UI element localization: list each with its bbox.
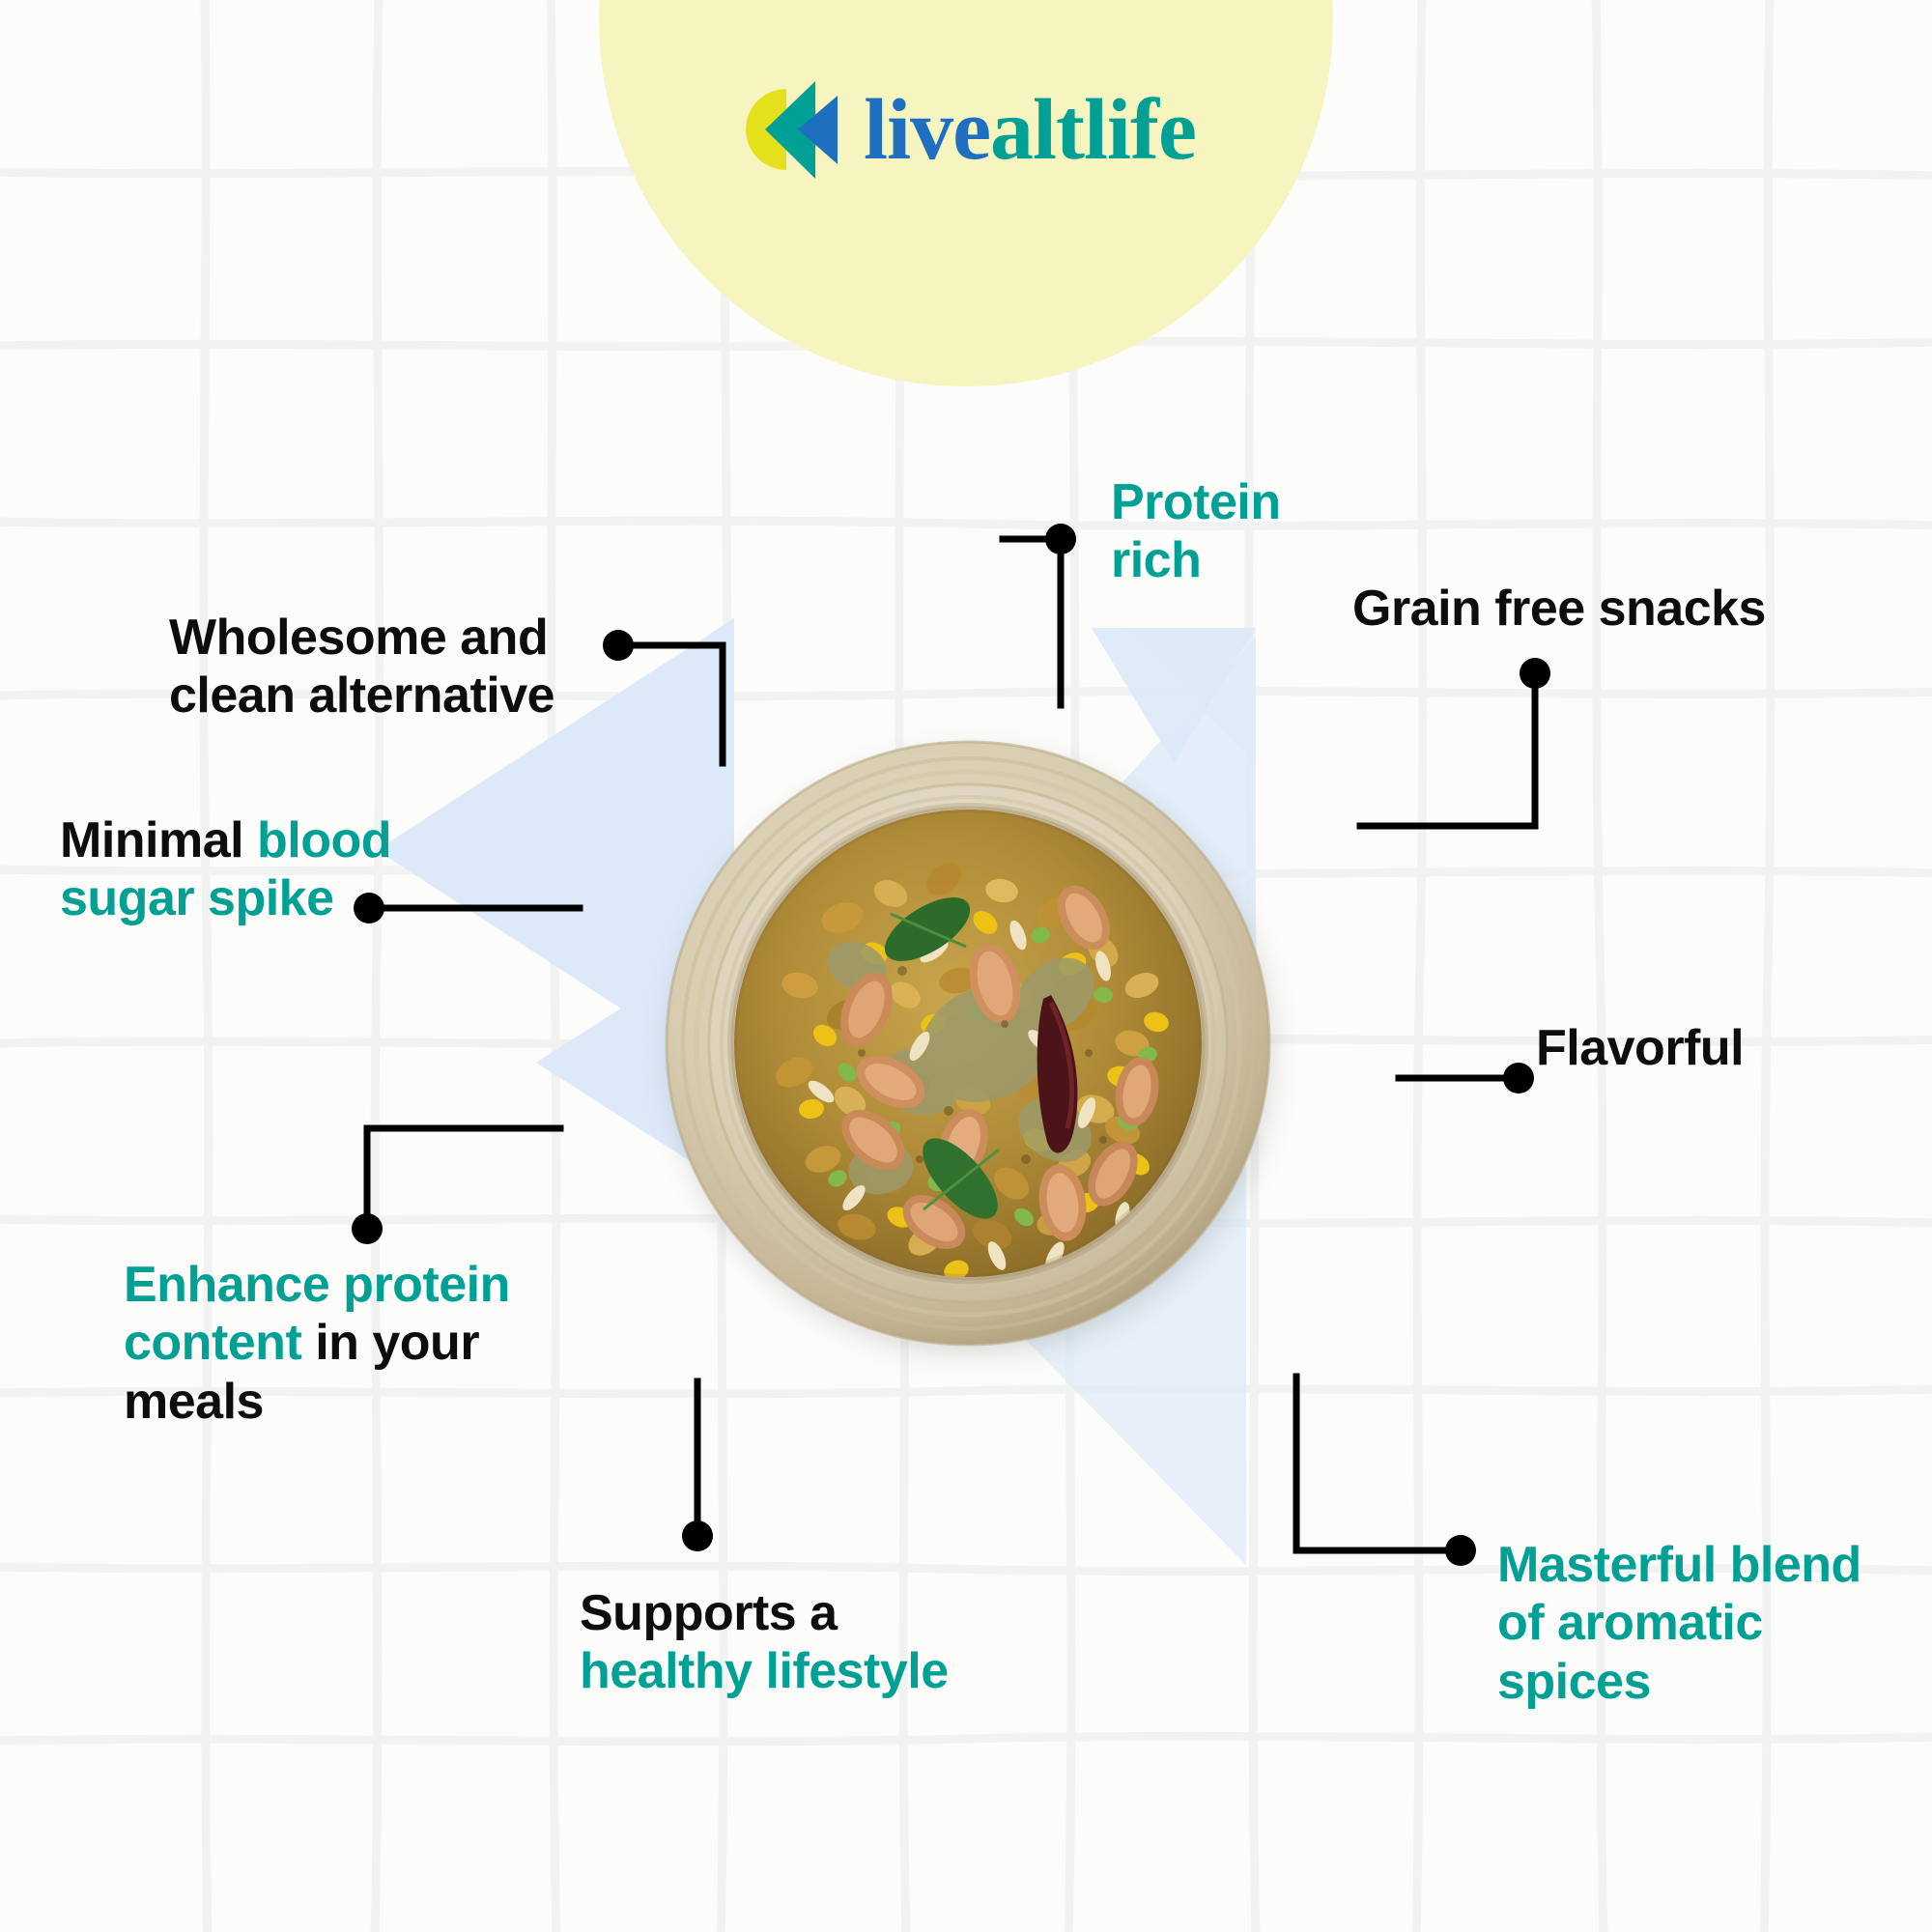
connector-dot-grain-free (1520, 658, 1550, 689)
callout-line: healthy lifestyle (580, 1642, 985, 1700)
callout-text: Flavorful (1536, 1020, 1744, 1076)
callout-line: Masterful blend (1497, 1536, 1903, 1594)
callout-flavorful: Flavorful (1536, 1019, 1826, 1077)
callout-grain-free-snacks: Grain free snacks (1352, 580, 1787, 638)
callout-line: Supports a (580, 1584, 985, 1642)
callout-line: content in your (124, 1314, 529, 1372)
callout-text: clean alternative (169, 668, 554, 724)
callout-line: of aromatic (1497, 1594, 1903, 1652)
livealtlife-arrow-mark-icon (736, 79, 842, 181)
connector-dot-masterful-blend (1445, 1535, 1476, 1566)
connector-grain-free (1360, 673, 1535, 826)
callout-text: Protein (1111, 474, 1281, 530)
callout-line: meals (124, 1373, 529, 1431)
brand-logo[interactable]: livealtlife (736, 79, 1196, 181)
callout-wholesome-clean-alternative: Wholesome and clean alternative (169, 609, 584, 725)
callout-text-accent: healthy lifestyle (580, 1643, 949, 1699)
connector-enhance-protein (367, 1128, 560, 1229)
callout-supports-healthy-lifestyle: Supports a healthy lifestyle (580, 1584, 985, 1701)
connector-dot-protein-rich (1045, 524, 1076, 554)
connector-dot-wholesome (603, 630, 634, 661)
callout-line: rich (1111, 531, 1333, 589)
connector-dot-enhance-protein (352, 1213, 383, 1244)
callout-line: clean alternative (169, 667, 584, 724)
callout-line: Grain free snacks (1352, 580, 1787, 638)
callout-line: Minimal blood (60, 811, 446, 869)
callout-text: in your (301, 1315, 479, 1371)
callout-text: meals (124, 1374, 264, 1430)
callout-line: spices (1497, 1653, 1903, 1711)
callout-text: rich (1111, 532, 1201, 588)
bowl-of-snack-mix-illustration (601, 676, 1335, 1410)
callout-protein-rich: Protein rich (1111, 473, 1333, 590)
callout-text: Wholesome and (169, 610, 548, 666)
callout-text: Grain free snacks (1352, 581, 1766, 637)
callout-line: Wholesome and (169, 609, 584, 667)
callout-text: Supports a (580, 1585, 838, 1641)
callout-text-accent: Masterful blend (1497, 1537, 1861, 1593)
callout-minimal-blood-sugar-spike: Minimal blood sugar spike (60, 811, 446, 928)
brand-wordmark: livealtlife (864, 87, 1196, 174)
callout-text-accent: blood (257, 812, 391, 868)
connector-dot-supports-lifestyle (682, 1520, 713, 1551)
brand-word-altlife: altlife (990, 82, 1196, 178)
callout-masterful-blend-aromatic-spices: Masterful blend of aromatic spices (1497, 1536, 1903, 1711)
callout-text-accent: of aromatic (1497, 1595, 1763, 1651)
callout-line: Flavorful (1536, 1019, 1826, 1077)
callout-text-accent: sugar spike (60, 870, 334, 926)
callout-line: Enhance protein (124, 1256, 529, 1314)
brand-word-live: live (864, 82, 990, 178)
callout-text: Minimal (60, 812, 257, 868)
callout-enhance-protein-content: Enhance protein content in your meals (124, 1256, 529, 1431)
callout-text-accent: Enhance protein (124, 1257, 510, 1313)
callout-text-accent: spices (1497, 1654, 1651, 1710)
callout-text-accent: content (124, 1315, 301, 1371)
header-yellow-circle (599, 0, 1333, 386)
product-bowl-image (601, 676, 1335, 1410)
connector-dot-flavorful (1503, 1063, 1534, 1094)
callout-line: sugar spike (60, 869, 446, 927)
callout-line: Protein (1111, 473, 1333, 531)
